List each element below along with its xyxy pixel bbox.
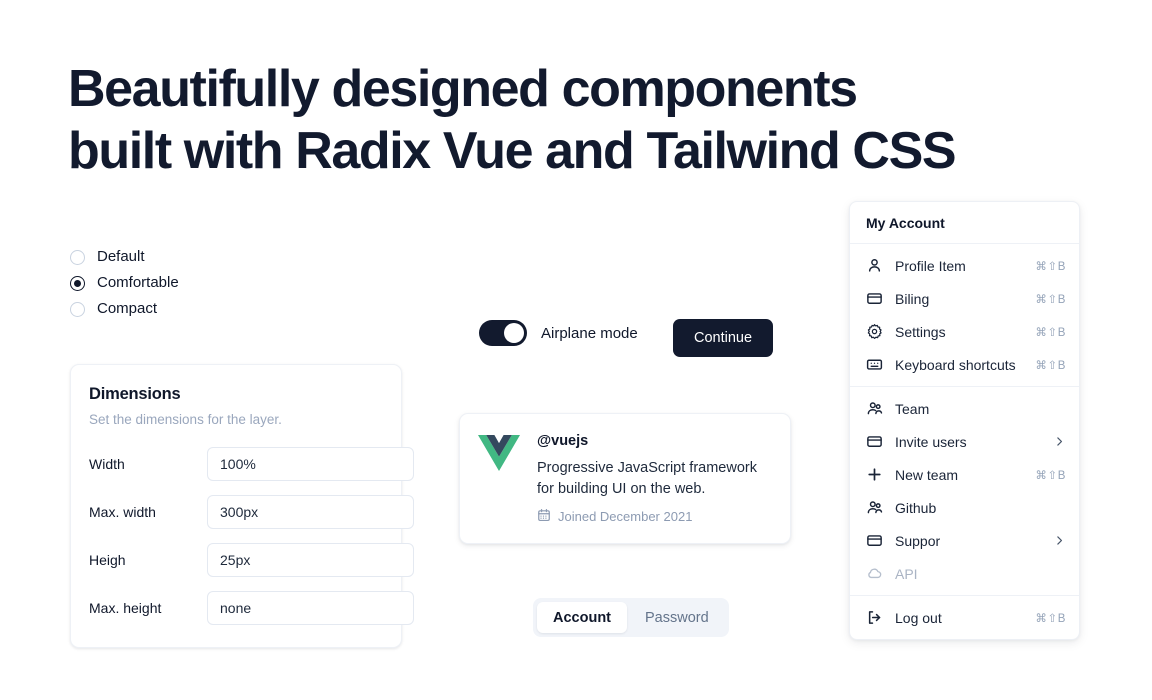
airplane-mode-row[interactable]: Airplane mode — [479, 320, 638, 346]
menu-label: My Account — [850, 202, 1079, 243]
toggle-knob — [504, 323, 524, 343]
radio-indicator[interactable] — [70, 250, 85, 265]
radio-option-label: Default — [97, 248, 145, 266]
cloud-icon — [866, 565, 883, 582]
account-dropdown-menu: My Account Profile Item⌘⇧BBiling⌘⇧BSetti… — [849, 201, 1080, 640]
menu-item-shortcut: ⌘⇧B — [1035, 259, 1066, 273]
vue-hover-card: @vuejs Progressive JavaScript framework … — [459, 413, 791, 544]
vue-description: Progressive JavaScript framework for bui… — [537, 458, 772, 500]
dimension-row: Width — [89, 447, 383, 481]
menu-item-api: API — [850, 557, 1079, 590]
vue-logo-icon — [478, 435, 520, 473]
dimension-input-max-width[interactable] — [207, 495, 414, 529]
calendar-icon — [537, 508, 551, 525]
user-icon — [866, 257, 883, 274]
users-icon — [866, 400, 883, 417]
hero-line-1: Beautifully designed components — [68, 58, 1018, 120]
menu-item-label: New team — [895, 467, 1035, 483]
menu-item-team[interactable]: Team — [850, 392, 1079, 425]
gear-icon — [866, 323, 883, 340]
tab-account[interactable]: Account — [537, 602, 627, 633]
menu-group: Profile Item⌘⇧BBiling⌘⇧BSettings⌘⇧BKeybo… — [850, 244, 1079, 386]
menu-item-profile-item[interactable]: Profile Item⌘⇧B — [850, 249, 1079, 282]
radio-indicator-checked[interactable] — [70, 276, 85, 291]
page-title: Beautifully designed components built wi… — [68, 58, 1018, 182]
menu-group: TeamInvite usersNew team⌘⇧BGithubSupporA… — [850, 387, 1079, 595]
menu-item-invite-users[interactable]: Invite users — [850, 425, 1079, 458]
menu-item-shortcut: ⌘⇧B — [1035, 358, 1066, 372]
menu-item-label: Biling — [895, 291, 1035, 307]
dimensions-title: Dimensions — [89, 385, 383, 404]
hero-line-2: built with Radix Vue and Tailwind CSS — [68, 120, 1018, 182]
vue-handle: @vuejs — [537, 433, 772, 449]
chevron-right-icon — [1053, 534, 1066, 547]
menu-item-label: Settings — [895, 324, 1035, 340]
menu-item-shortcut: ⌘⇧B — [1035, 468, 1066, 482]
radio-group[interactable]: DefaultComfortableCompact — [70, 248, 179, 318]
menu-item-github[interactable]: Github — [850, 491, 1079, 524]
menu-item-log-out[interactable]: Log out⌘⇧B — [850, 601, 1079, 634]
users-icon — [866, 499, 883, 516]
dimension-input-heigh[interactable] — [207, 543, 414, 577]
continue-button[interactable]: Continue — [673, 319, 773, 357]
menu-item-label: Github — [895, 500, 1066, 516]
credit-card-icon — [866, 290, 883, 307]
dimension-row: Heigh — [89, 543, 383, 577]
radio-option-comfortable[interactable]: Comfortable — [70, 274, 179, 292]
menu-group: Log out⌘⇧B — [850, 596, 1079, 639]
menu-item-label: Suppor — [895, 533, 1053, 549]
menu-item-label: Keyboard shortcuts — [895, 357, 1035, 373]
tabs[interactable]: AccountPassword — [533, 598, 729, 637]
logout-icon — [866, 609, 883, 626]
radio-option-compact[interactable]: Compact — [70, 300, 179, 318]
credit-card-icon — [866, 433, 883, 450]
credit-card-icon — [866, 532, 883, 549]
menu-item-label: Profile Item — [895, 258, 1035, 274]
tab-password[interactable]: Password — [629, 602, 725, 633]
dimension-label: Heigh — [89, 552, 207, 568]
dimension-label: Max. height — [89, 600, 207, 616]
menu-item-shortcut: ⌘⇧B — [1035, 325, 1066, 339]
radio-option-label: Comfortable — [97, 274, 179, 292]
vue-joined-row: Joined December 2021 — [537, 508, 772, 525]
menu-item-keyboard-shortcuts[interactable]: Keyboard shortcuts⌘⇧B — [850, 348, 1079, 381]
menu-groups: Profile Item⌘⇧BBiling⌘⇧BSettings⌘⇧BKeybo… — [850, 243, 1079, 639]
vue-joined-label: Joined December 2021 — [558, 509, 692, 524]
menu-item-suppor[interactable]: Suppor — [850, 524, 1079, 557]
dimensions-card: Dimensions Set the dimensions for the la… — [70, 364, 402, 648]
menu-item-shortcut: ⌘⇧B — [1035, 611, 1066, 625]
dimension-label: Width — [89, 456, 207, 472]
keyboard-icon — [866, 356, 883, 373]
chevron-right-icon — [1053, 435, 1066, 448]
radio-option-label: Compact — [97, 300, 157, 318]
dimensions-fields: WidthMax. widthHeighMax. height — [89, 447, 383, 625]
dimension-row: Max. width — [89, 495, 383, 529]
menu-item-new-team[interactable]: New team⌘⇧B — [850, 458, 1079, 491]
airplane-mode-label: Airplane mode — [541, 325, 638, 342]
radio-option-default[interactable]: Default — [70, 248, 179, 266]
dimension-input-width[interactable] — [207, 447, 414, 481]
radio-indicator[interactable] — [70, 302, 85, 317]
menu-item-label: Log out — [895, 610, 1035, 626]
menu-item-settings[interactable]: Settings⌘⇧B — [850, 315, 1079, 348]
airplane-mode-toggle[interactable] — [479, 320, 527, 346]
dimension-label: Max. width — [89, 504, 207, 520]
dimensions-description: Set the dimensions for the layer. — [89, 412, 383, 427]
dimension-input-max-height[interactable] — [207, 591, 414, 625]
menu-item-shortcut: ⌘⇧B — [1035, 292, 1066, 306]
menu-item-label: Team — [895, 401, 1066, 417]
menu-item-label: Invite users — [895, 434, 1053, 450]
menu-item-label: API — [895, 566, 1066, 582]
menu-item-biling[interactable]: Biling⌘⇧B — [850, 282, 1079, 315]
plus-icon — [866, 466, 883, 483]
dimension-row: Max. height — [89, 591, 383, 625]
